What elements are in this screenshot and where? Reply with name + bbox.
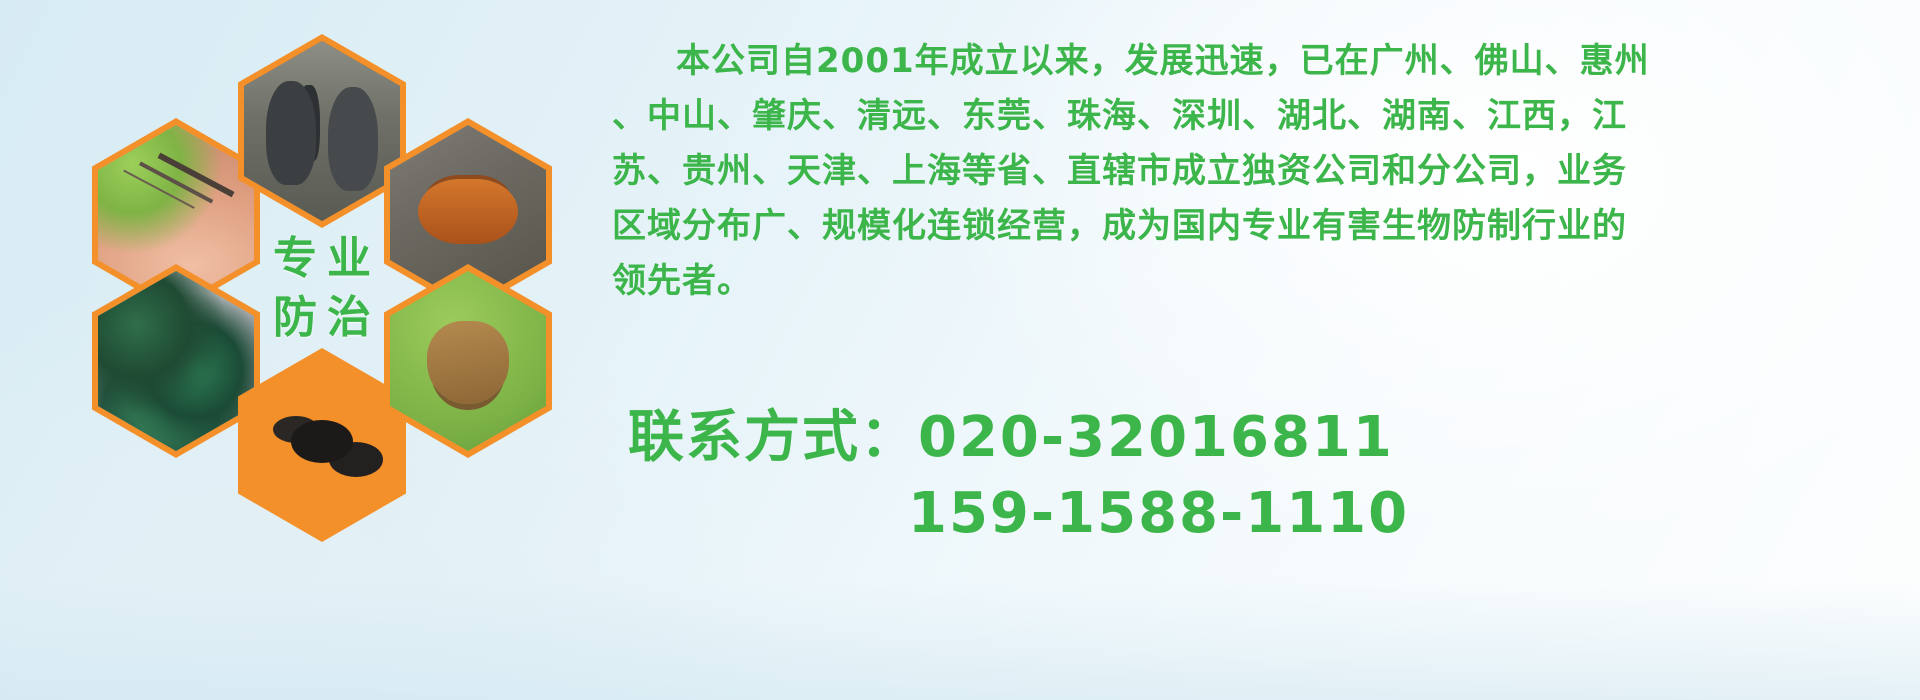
- hex-photo-flies: [92, 264, 260, 458]
- fly-icon: [98, 271, 254, 451]
- about-line-3: 苏、贵州、天津、上海等省、直辖市成立独资公司和分公司，业务: [612, 144, 1902, 199]
- promo-banner: 专业 防治 本公司自2001年成立以来，发展迅速，已在广州、佛山、惠州 、中山、…: [0, 0, 1920, 700]
- contact-mobile[interactable]: 159-1588-1110: [612, 476, 1912, 552]
- about-paragraph: 本公司自2001年成立以来，发展迅速，已在广州、佛山、惠州 、中山、肇庆、清远、…: [612, 34, 1902, 309]
- stink-bug-icon: [390, 271, 546, 451]
- badge-line-1: 专业: [263, 229, 381, 288]
- about-line-2: 、中山、肇庆、清远、东莞、珠海、深圳、湖北、湖南、江西，江: [612, 89, 1902, 144]
- hex-center-badge: 专业 防治: [238, 191, 406, 385]
- contact-landline[interactable]: 联系方式：020-32016811: [612, 400, 1912, 476]
- hex-photo-stink-bug: [384, 264, 552, 458]
- hexagon-photo-cluster: 专业 防治: [92, 10, 592, 570]
- about-line-5: 领先者。: [612, 254, 1902, 309]
- contact-block: 联系方式：020-32016811 159-1588-1110: [612, 400, 1912, 552]
- about-line-1: 本公司自2001年成立以来，发展迅速，已在广州、佛山、惠州: [612, 34, 1902, 89]
- about-line-4: 区域分布广、规模化连锁经营，成为国内专业有害生物防制行业的: [612, 199, 1902, 254]
- badge-line-2: 防治: [263, 288, 381, 347]
